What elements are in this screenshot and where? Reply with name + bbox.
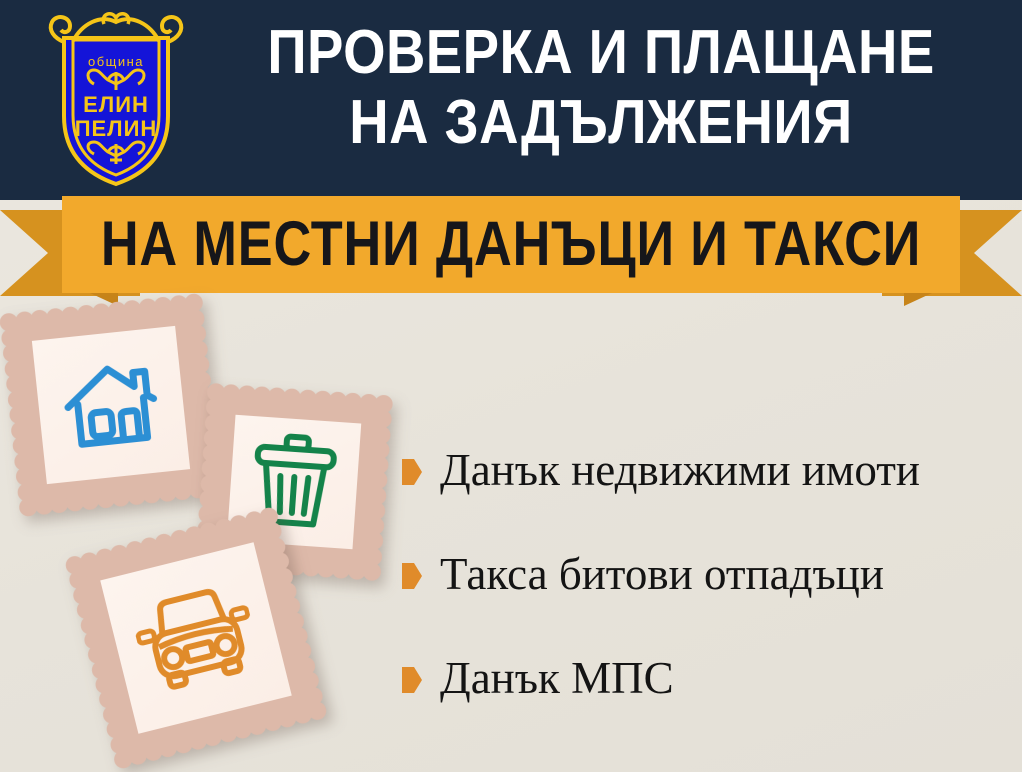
list-item[interactable]: Такса битови отпадъци (402, 522, 1022, 626)
list-item-label: Такса битови отпадъци (440, 549, 884, 599)
stamp-car (75, 517, 317, 759)
bullet-arrow-icon (402, 667, 422, 693)
list-item-label: Данък недвижими имоти (440, 445, 920, 495)
house-icon (9, 303, 213, 507)
tax-type-list: Данък недвижими имоти Такса битови отпад… (402, 418, 1022, 730)
bullet-arrow-icon (402, 459, 422, 485)
stamp-house (9, 303, 213, 507)
list-item-label: Данък МПС (440, 653, 674, 703)
page-title: ПРОВЕРКА И ПЛАЩАНЕ НА ЗАДЪЛЖЕНИЯ (231, 18, 972, 158)
page-title-line2: НА ЗАДЪЛЖЕНИЯ (231, 88, 972, 158)
list-item[interactable]: Данък недвижими имоти (402, 418, 1022, 522)
poster-canvas: ПРОВЕРКА И ПЛАЩАНЕ НА ЗАДЪЛЖЕНИЯ община … (0, 0, 1022, 772)
svg-text:община: община (88, 54, 144, 69)
ribbon-banner: НА МЕСТНИ ДАНЪЦИ И ТАКСИ (0, 196, 1022, 308)
svg-text:ПЕЛИН: ПЕЛИН (75, 116, 158, 141)
bullet-arrow-icon (402, 563, 422, 589)
coat-of-arms-shield-icon: община ЕЛИН ПЕЛИН (42, 8, 190, 190)
svg-text:ЕЛИН: ЕЛИН (83, 92, 149, 117)
list-item[interactable]: Данък МПС (402, 626, 1022, 730)
page-title-line1: ПРОВЕРКА И ПЛАЩАНЕ (267, 18, 934, 87)
ribbon-label: НА МЕСТНИ ДАНЪЦИ И ТАКСИ (138, 196, 883, 293)
